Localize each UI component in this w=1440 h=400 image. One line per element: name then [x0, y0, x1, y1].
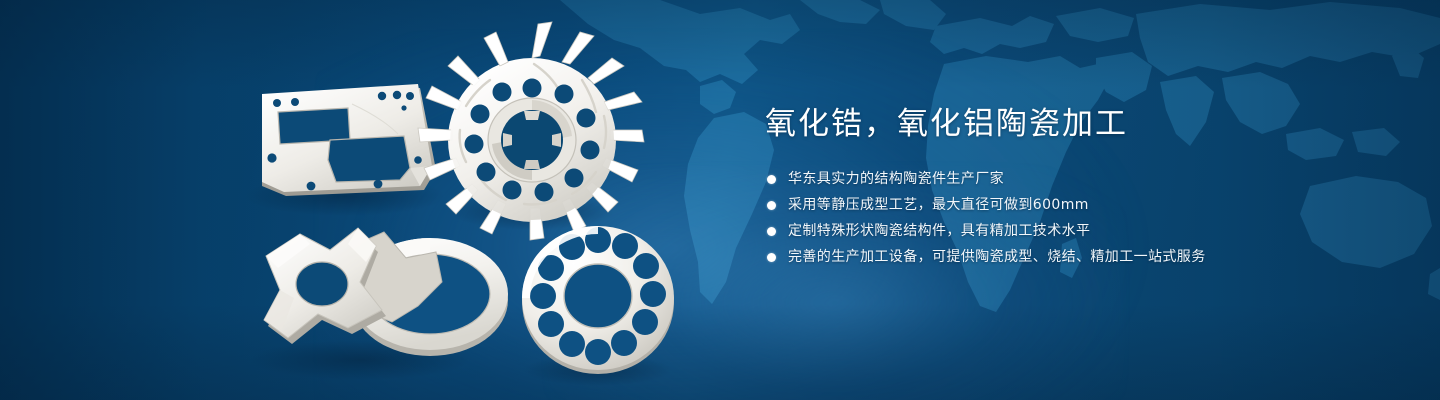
ceramic-products-group — [0, 0, 760, 400]
bullet-text: 华东具实力的结构陶瓷件生产厂家 — [788, 168, 1004, 191]
list-item: 完善的生产加工设备，可提供陶瓷成型、烧结、精加工一站式服务 — [767, 246, 1365, 269]
bullet-dot-icon — [767, 175, 776, 184]
bullet-text: 采用等静压成型工艺，最大直径可做到600mm — [788, 194, 1089, 217]
bullet-text: 完善的生产加工设备，可提供陶瓷成型、烧结、精加工一站式服务 — [788, 246, 1206, 269]
list-item: 华东具实力的结构陶瓷件生产厂家 — [767, 168, 1365, 191]
bullet-text: 定制特殊形状陶瓷结构件，具有精加工技术水平 — [788, 220, 1090, 243]
list-item: 定制特殊形状陶瓷结构件，具有精加工技术水平 — [767, 220, 1365, 243]
feature-bullet-list: 华东具实力的结构陶瓷件生产厂家 采用等静压成型工艺，最大直径可做到600mm 定… — [767, 168, 1365, 269]
ceramic-vaned-impeller — [418, 22, 644, 240]
bullet-dot-icon — [767, 253, 776, 262]
ceramic-perforated-disc — [522, 226, 674, 374]
list-item: 采用等静压成型工艺，最大直径可做到600mm — [767, 194, 1365, 217]
ceramic-products-banner: 氧化锆，氧化铝陶瓷加工 华东具实力的结构陶瓷件生产厂家 采用等静压成型工艺，最大… — [0, 0, 1440, 400]
bullet-dot-icon — [767, 201, 776, 210]
bullet-dot-icon — [767, 227, 776, 236]
ceramic-machined-plate — [262, 84, 436, 196]
banner-headline: 氧化锆，氧化铝陶瓷加工 — [765, 104, 1365, 144]
banner-text-block: 氧化锆，氧化铝陶瓷加工 华东具实力的结构陶瓷件生产厂家 采用等静压成型工艺，最大… — [765, 104, 1365, 272]
